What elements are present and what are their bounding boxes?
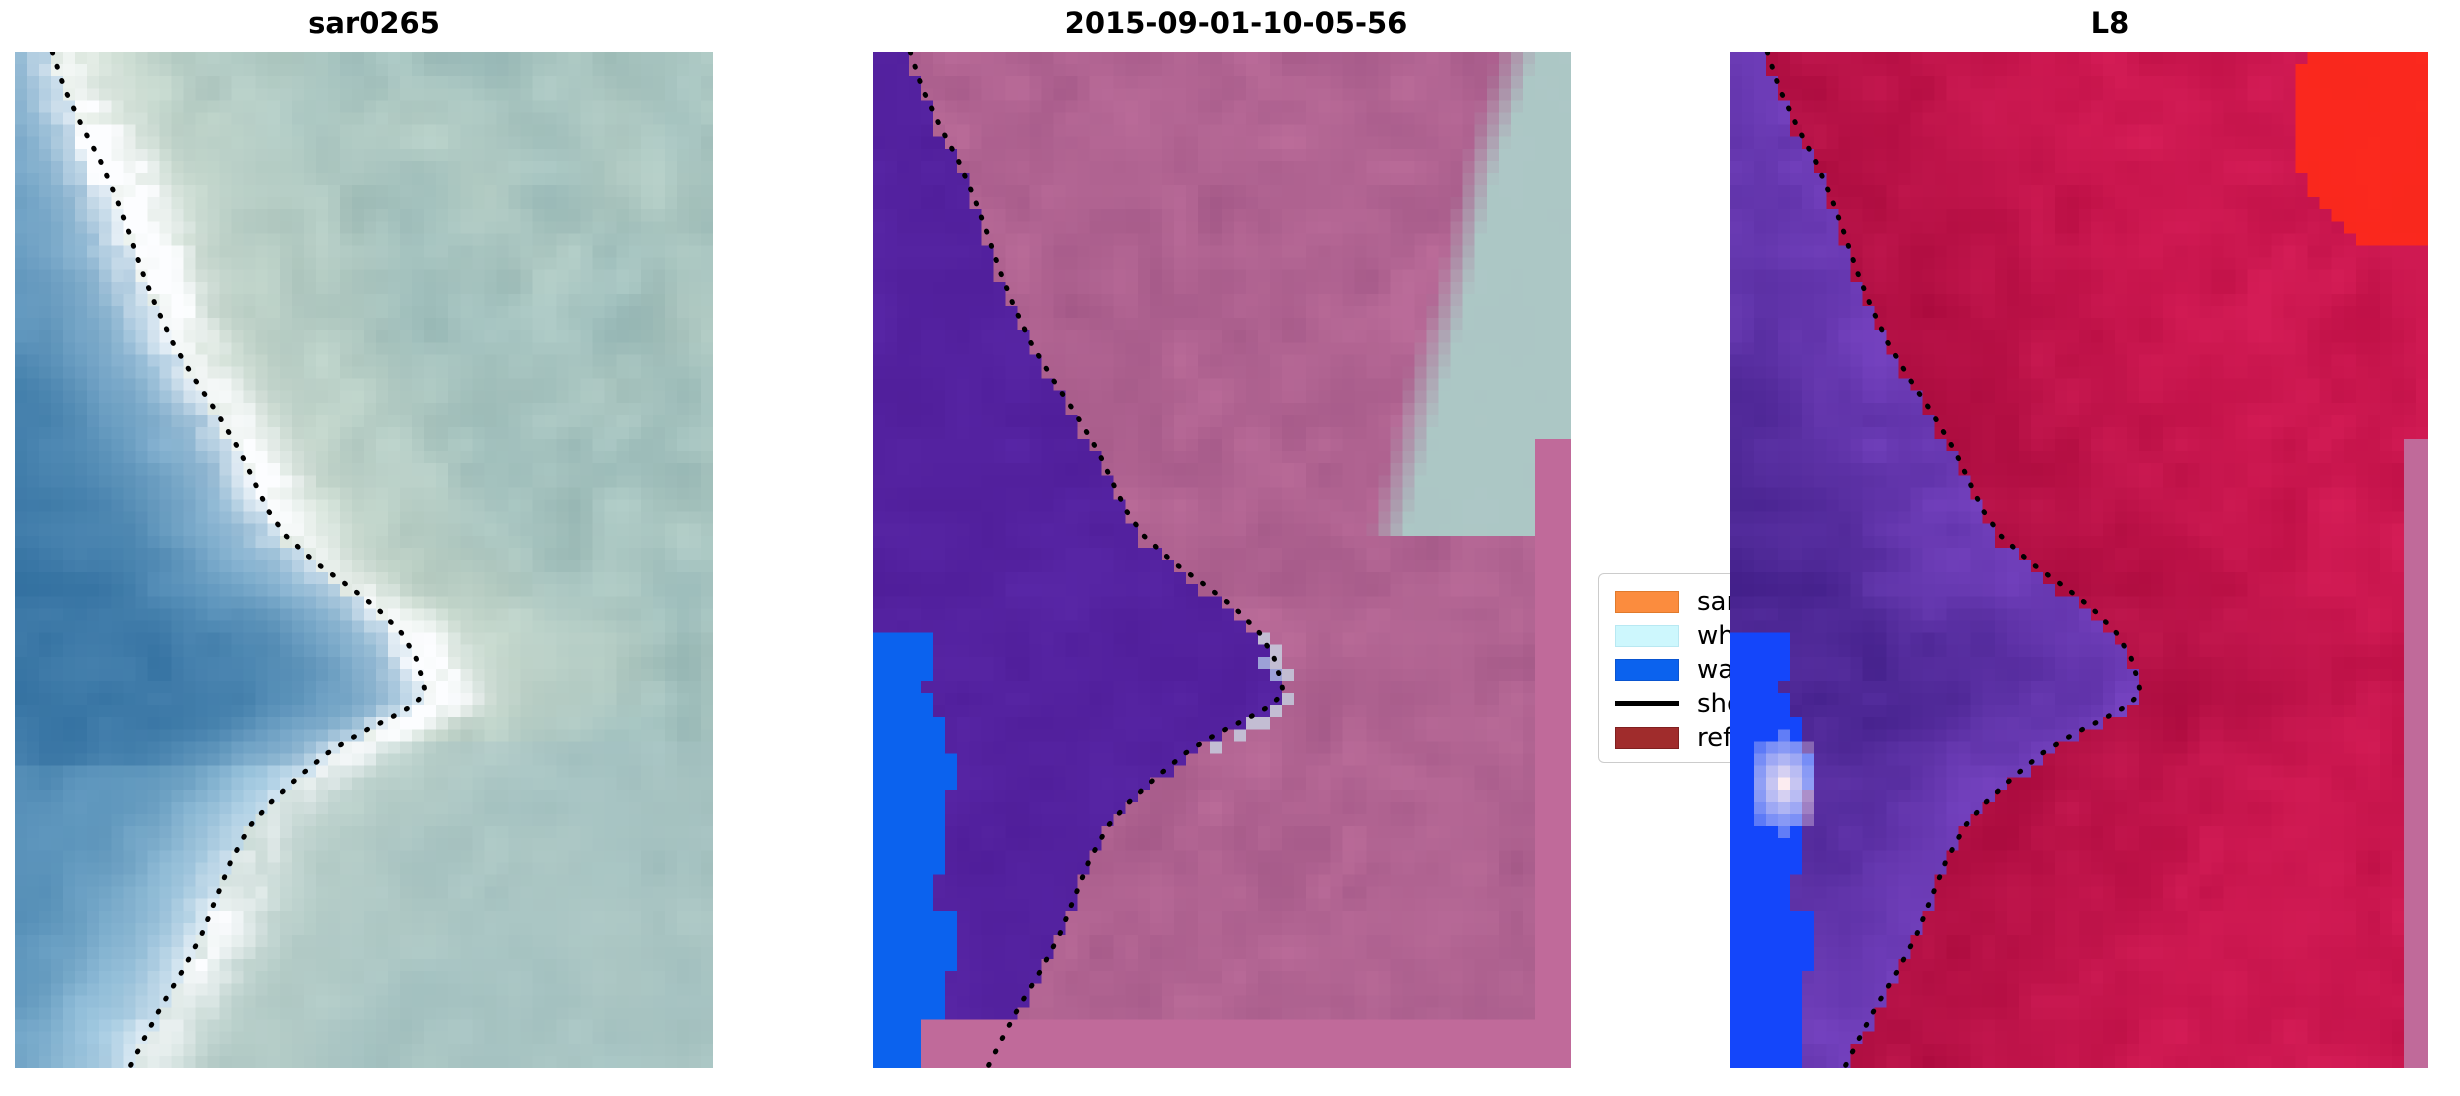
water-swatch-icon xyxy=(1615,659,1679,681)
shoreline-overlay xyxy=(15,52,713,1068)
shoreline-line-icon xyxy=(1615,701,1679,706)
panel-title-l8: L8 xyxy=(1710,6,2460,40)
figure-canvas: sar0265 2015-09-01-10-05-56 L8 sand whit… xyxy=(0,0,2460,1096)
panel-title-date: 2015-09-01-10-05-56 xyxy=(836,6,1636,40)
whitewater-swatch-icon xyxy=(1615,625,1679,647)
shoreline-overlay xyxy=(1730,52,2428,1068)
reference-swatch-icon xyxy=(1615,727,1679,749)
l8-panel[interactable] xyxy=(1730,52,2428,1068)
shoreline-overlay xyxy=(873,52,1571,1068)
sar-rgb-panel[interactable] xyxy=(15,52,713,1068)
panel-title-sar: sar0265 xyxy=(0,6,774,40)
classified-panel[interactable] xyxy=(873,52,1571,1068)
sand-swatch-icon xyxy=(1615,591,1679,613)
